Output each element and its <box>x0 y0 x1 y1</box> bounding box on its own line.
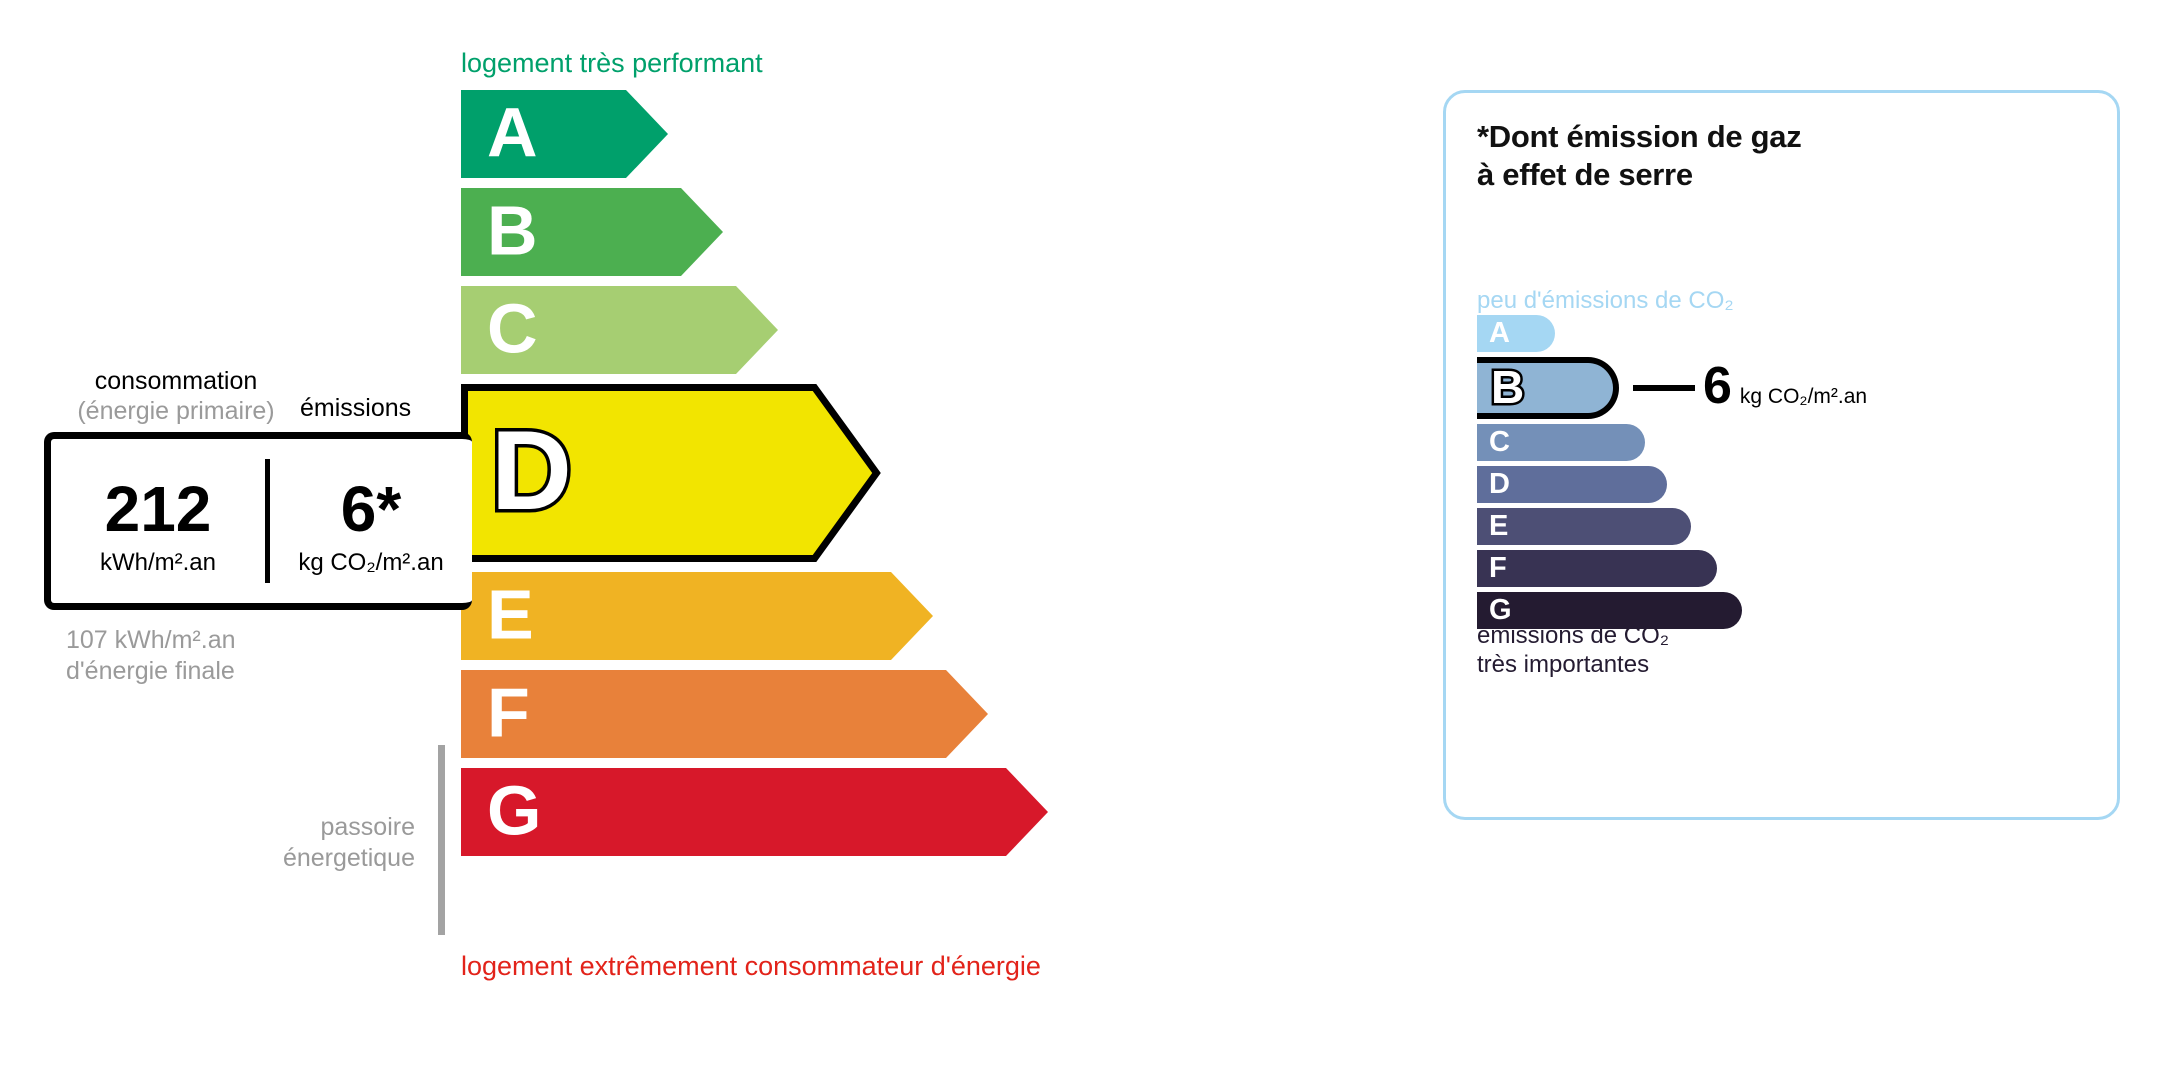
energy-bar-g: G <box>461 768 1261 856</box>
final-energy-line1: 107 kWh/m².an <box>66 625 236 656</box>
energy-bar-f: F <box>461 670 1261 758</box>
co2-bottom-line1: émissions de CO₂ <box>1477 621 1669 650</box>
co2-emissions-panel: *Dont émission de gaz à effet de serre p… <box>1443 90 2120 820</box>
co2-title-line2: à effet de serre <box>1477 156 1801 194</box>
energy-consumption-cell: 212 kWh/m².an <box>51 439 265 603</box>
energy-bar-letter-f: F <box>487 678 530 748</box>
energy-bar-d: D <box>461 384 1261 562</box>
passoire-line2: énergetique <box>180 843 415 874</box>
consumption-label-main: consommation <box>66 367 286 397</box>
energy-bar-c: C <box>461 286 1261 374</box>
energy-bar-letter-g: G <box>487 776 541 846</box>
co2-bar-letter-d: D <box>1489 469 1510 498</box>
energy-consumption-unit: kWh/m².an <box>100 549 216 577</box>
consumption-label-sub: (énergie primaire) <box>66 397 286 427</box>
passoire-line1: passoire <box>180 812 415 843</box>
co2-bar-letter-a: A <box>1489 318 1510 347</box>
co2-emission-unit: kg CO₂/m².an <box>298 549 443 577</box>
co2-callout-value: 6 <box>1703 360 1732 412</box>
co2-title-line1: *Dont émission de gaz <box>1477 118 1801 156</box>
energy-bar-letter-b: B <box>487 196 538 266</box>
co2-callout-unit: kg CO₂/m².an <box>1740 385 1867 409</box>
co2-bottom-line2: très importantes <box>1477 650 1669 679</box>
co2-bottom-caption: émissions de CO₂ très importantes <box>1477 621 1669 680</box>
energy-bar-letter-a: A <box>487 98 538 168</box>
final-energy-line2: d'énergie finale <box>66 656 236 687</box>
co2-bar-f: F <box>1477 550 2097 587</box>
energy-bottom-caption: logement extrêmement consommateur d'éner… <box>461 951 1041 982</box>
arrow-shape-g: G <box>461 768 1261 856</box>
co2-callout: 6kg CO₂/m².an <box>1703 360 1867 412</box>
co2-leader-line <box>1633 385 1695 391</box>
energy-arrow-stack: ABCDEFG <box>461 90 1261 866</box>
passoire-bracket-line <box>438 745 445 935</box>
energy-top-caption: logement très performant <box>461 48 763 79</box>
energy-bar-letter-c: C <box>487 294 538 364</box>
co2-bar-letter-f: F <box>1489 553 1507 582</box>
arrow-shape-f: F <box>461 670 1261 758</box>
co2-top-caption: peu d'émissions de CO₂ <box>1477 287 1734 315</box>
co2-bar-letter-b: B <box>1491 364 1524 410</box>
final-energy-note: 107 kWh/m².an d'énergie finale <box>66 625 236 686</box>
co2-bar-fill-f <box>1477 550 1717 587</box>
co2-bar-d: D <box>1477 466 2097 503</box>
co2-bar-e: E <box>1477 508 2097 545</box>
co2-bar-letter-c: C <box>1489 427 1510 456</box>
co2-emission-cell: 6* kg CO₂/m².an <box>270 439 472 603</box>
co2-bar-a: A <box>1477 315 2097 352</box>
co2-bar-letter-e: E <box>1489 511 1508 540</box>
arrow-shape-c: C <box>461 286 1261 374</box>
energy-consumption-value: 212 <box>105 477 212 541</box>
consumption-label: consommation (énergie primaire) <box>66 367 286 426</box>
arrow-shape-d: D <box>461 384 1261 562</box>
energy-bar-b: B <box>461 188 1261 276</box>
co2-bar-fill-e <box>1477 508 1691 545</box>
arrow-shape-e: E <box>461 572 1261 660</box>
consumption-value-box: 212 kWh/m².an 6* kg CO₂/m².an <box>44 432 472 610</box>
co2-emission-value: 6* <box>341 477 402 541</box>
energy-bar-letter-e: E <box>487 580 534 650</box>
passoire-label: passoire énergetique <box>180 812 415 873</box>
energy-bar-letter-d: D <box>491 415 572 527</box>
co2-bar-c: C <box>1477 424 2097 461</box>
arrow-shape-a: A <box>461 90 1261 178</box>
energy-bar-e: E <box>461 572 1261 660</box>
energy-bar-a: A <box>461 90 1261 178</box>
energy-performance-diagram: logement très performant ABCDEFG logemen… <box>0 0 1400 1079</box>
co2-panel-title: *Dont émission de gaz à effet de serre <box>1477 118 1801 194</box>
emissions-label: émissions <box>300 394 411 423</box>
arrow-shape-b: B <box>461 188 1261 276</box>
